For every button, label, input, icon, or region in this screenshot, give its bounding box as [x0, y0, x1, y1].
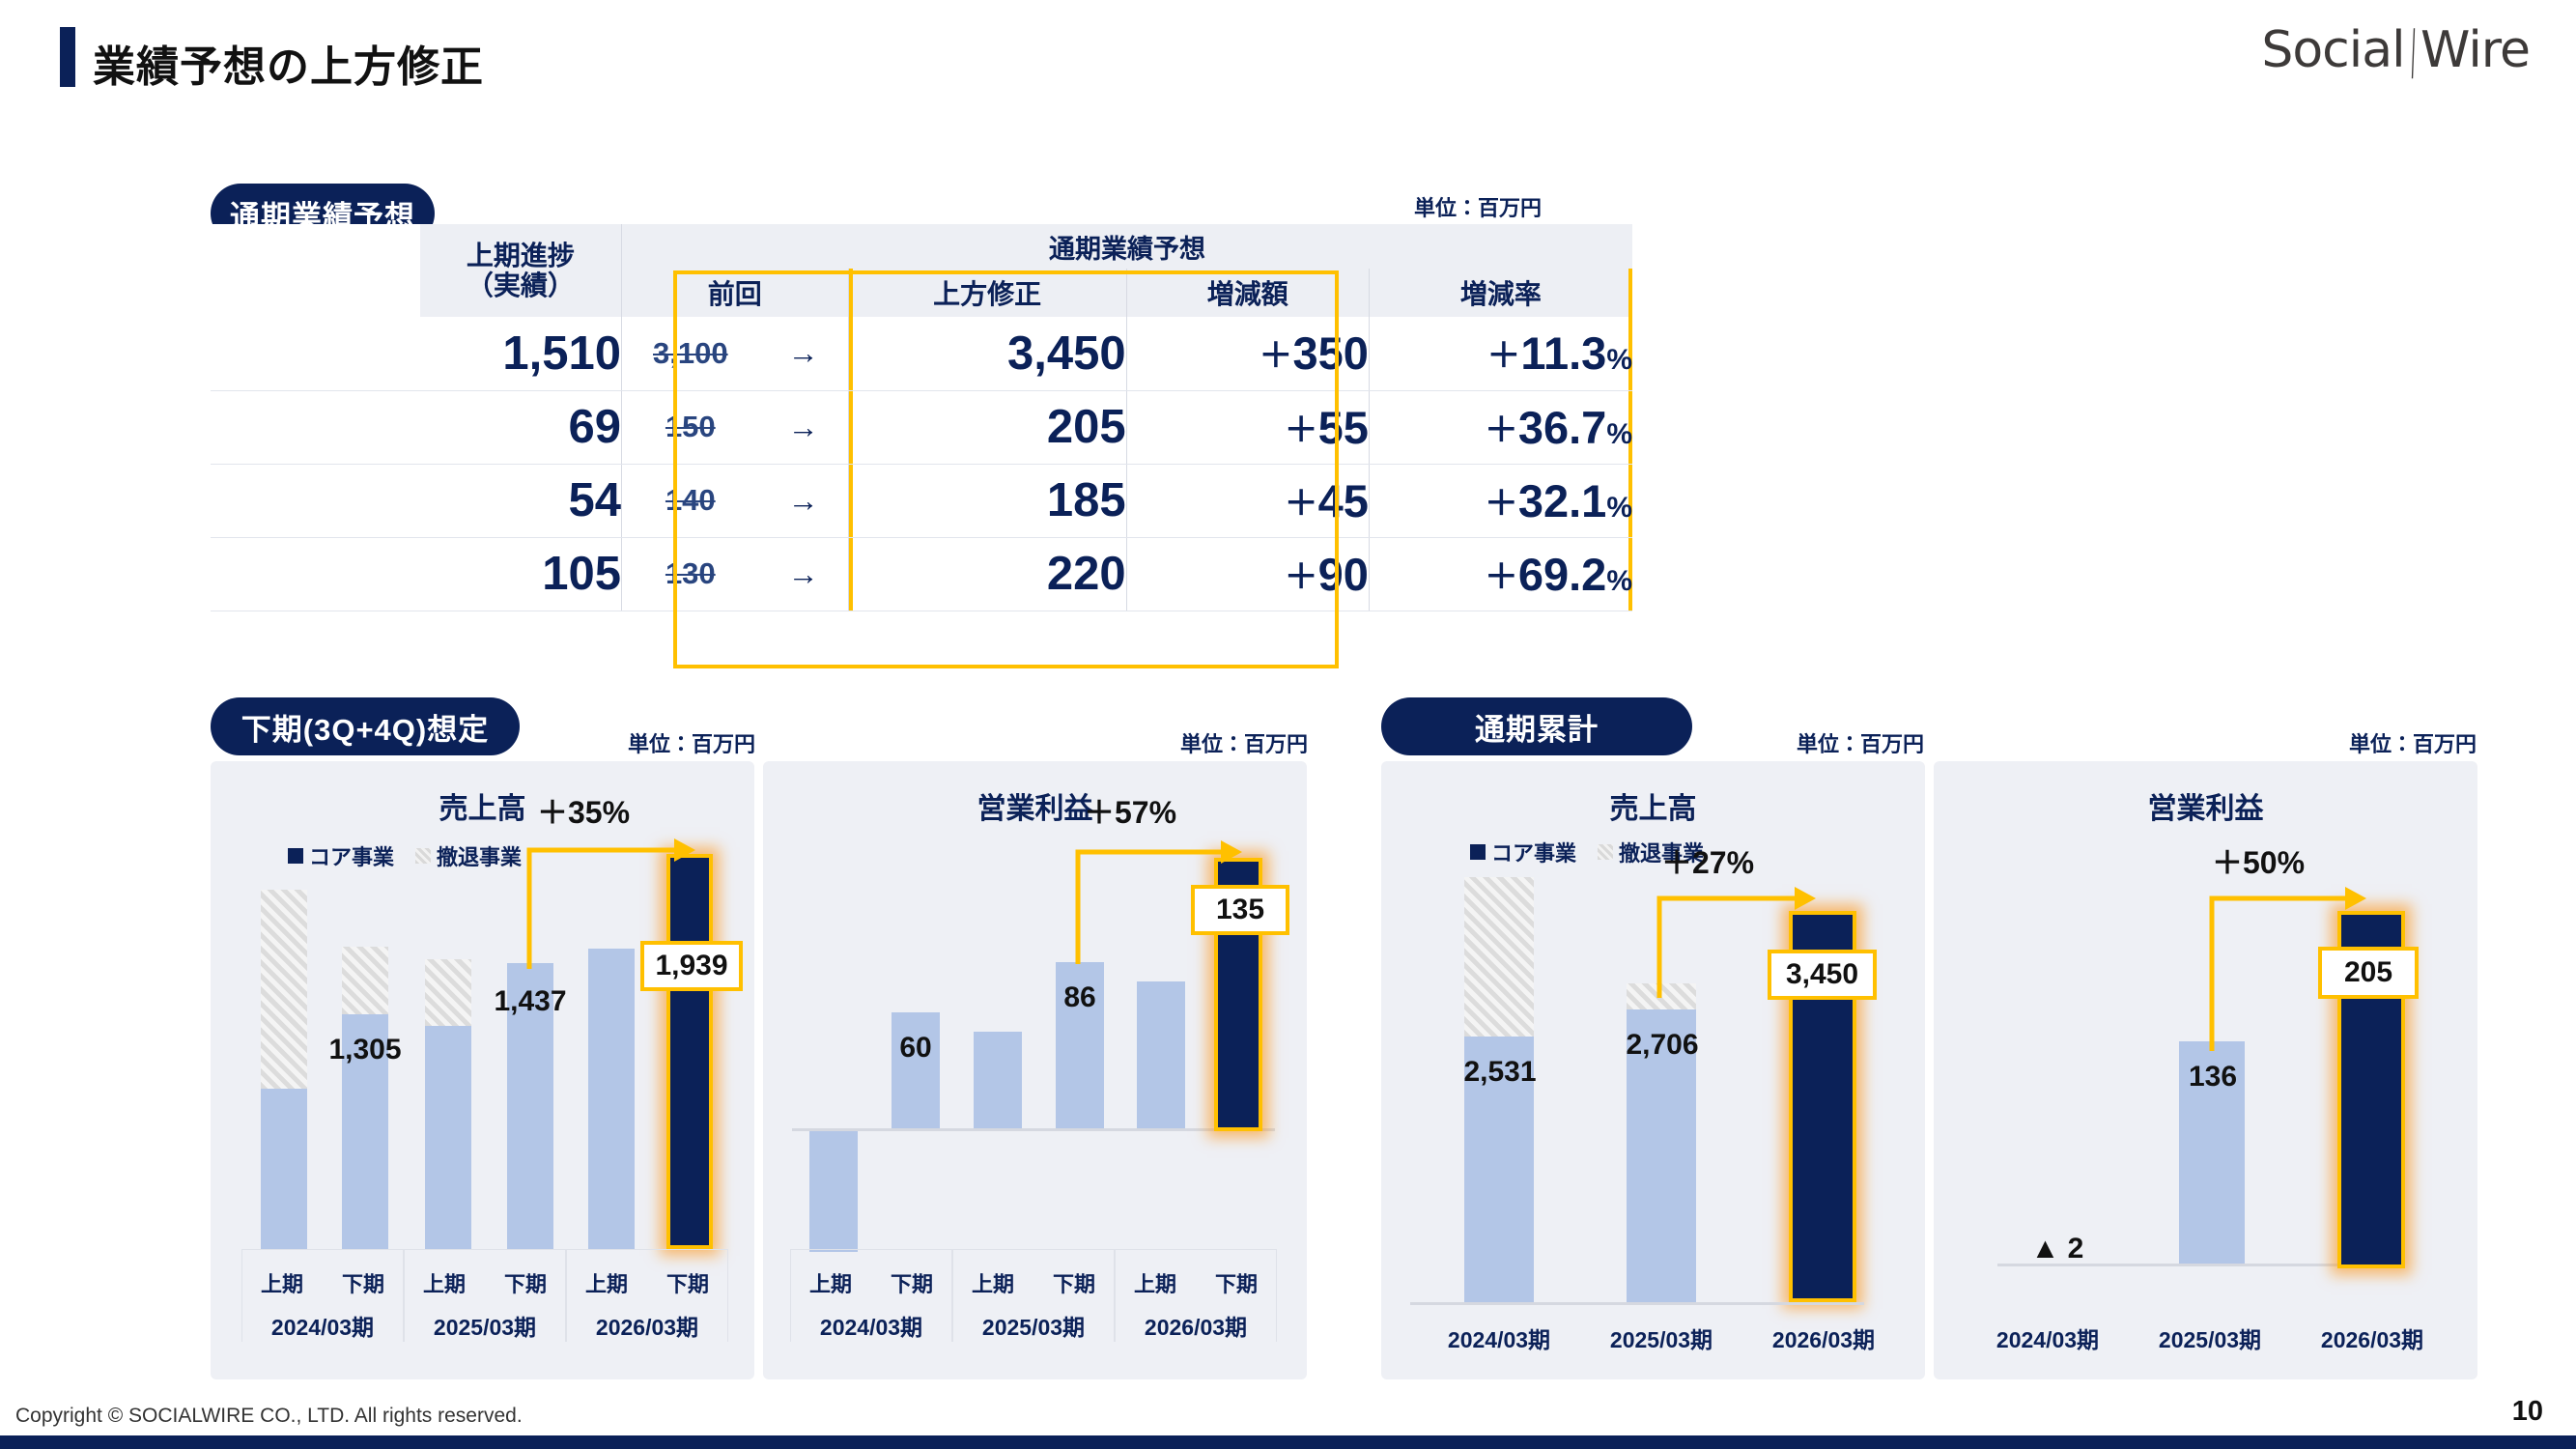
cell-previous-revenue: 3,100: [621, 317, 758, 390]
axis-year-fy2026-full-op: 2026/03期: [2291, 1321, 2453, 1354]
col-header-h1-progress-line2: （実績）: [420, 270, 621, 300]
cell-delta-ordinary-profit: ＋45: [1126, 464, 1369, 537]
cell-delta-operating-profit: ＋55: [1126, 390, 1369, 464]
bar-2024-h2: [892, 1012, 940, 1128]
bar-core-2024-h1: [261, 1089, 307, 1249]
cell-revised-operating-profit: 205: [848, 390, 1126, 464]
chart-title-half-revenue: 売上高: [211, 784, 754, 827]
table-row: 売上高 1,510 3,100 → 3,450 ＋350 ＋11.3%: [211, 317, 1632, 390]
axis-year-fy2025-full-op: 2025/03期: [2129, 1321, 2291, 1354]
axis-label-2025-h1: 上期: [404, 1267, 485, 1298]
bar-exit-fy2024: [1464, 877, 1534, 1037]
legend-swatch-exit-icon: [415, 848, 431, 864]
axis-year-2025-half-revenue: 2025/03期: [404, 1309, 566, 1342]
cell-delta-net-income: ＋90: [1126, 537, 1369, 611]
axis-label-op-2024-h2: 下期: [871, 1267, 952, 1298]
legend-item-core-full: コア事業: [1470, 837, 1576, 867]
cell-rate-revenue: ＋11.3%: [1369, 317, 1632, 390]
bar-2025-h1: [974, 1032, 1022, 1128]
annotation-label-full-revenue: ＋27%: [1661, 838, 1754, 883]
cell-previous-net-income: 130: [621, 537, 758, 611]
cell-previous-ordinary-profit: 140: [621, 464, 758, 537]
badge-second-half-assumption-label: 下期(3Q+4Q)想定: [241, 705, 489, 749]
axis-label-op-2025-h2: 下期: [1033, 1267, 1115, 1298]
axis-label-op-2026-h1: 上期: [1115, 1267, 1196, 1298]
axis-label-2026-h2: 下期: [647, 1267, 728, 1298]
table-row: 経常利益 54 140 → 185 ＋45 ＋32.1%: [211, 464, 1632, 537]
chart-card-full-revenue: 売上高 コア事業 撤退事業 2,531 2,706 3,450 ＋27% 202…: [1381, 761, 1925, 1379]
legend-item-exit: 撤退事業: [415, 840, 522, 871]
cell-revised-ordinary-profit: 185: [848, 464, 1126, 537]
annotation-arrow-full-operating-profit: [2204, 877, 2378, 1056]
half-unit-label-profit: 単位：百万円: [1180, 727, 1308, 758]
slide-root: 業績予想の上方修正 Social|Wire 通期業績予想 単位：百万円 上期進捗…: [0, 0, 2576, 1449]
full-unit-label-profit: 単位：百万円: [2349, 727, 2477, 758]
annotation-label-half-revenue: ＋35%: [537, 788, 630, 833]
legend-label-exit: 撤退事業: [437, 840, 522, 871]
logo-text-left: Social: [2261, 21, 2404, 79]
badge-second-half-assumption: 下期(3Q+4Q)想定: [211, 697, 520, 755]
baseline-full-revenue: [1410, 1302, 1864, 1305]
badge-full-year-cumulative: 通期累計: [1381, 697, 1692, 755]
forecast-table: 上期進捗 （実績） 通期業績予想 前回 上方修正 増減額 増減率 売上高 1,5…: [211, 224, 1632, 611]
logo-separator-icon: |: [2407, 21, 2418, 79]
legend-label-core-full: コア事業: [1491, 837, 1576, 867]
title-accent-bar: [60, 27, 75, 87]
annotation-label-half-operating-profit: ＋57%: [1084, 788, 1176, 833]
row-label-revenue: 売上高: [211, 317, 420, 390]
axis-year-fy2025-full-revenue: 2025/03期: [1580, 1321, 1742, 1354]
chart-card-half-operating-profit: 営業利益 60 86 135 ＋57% 上期 下期 上期 下期 上期 下期 20…: [763, 761, 1307, 1379]
axis-label-op-2026-h2: 下期: [1196, 1267, 1277, 1298]
zero-baseline-half-operating-profit: [792, 1128, 1275, 1131]
annotation-arrow-half-operating-profit: [1068, 829, 1252, 969]
legend-swatch-core-icon: [1470, 844, 1486, 860]
bar-label-fy2025: 2,706: [1613, 1029, 1712, 1062]
cell-h1-revenue: 1,510: [420, 317, 622, 390]
page-number: 10: [2512, 1396, 2543, 1428]
cell-delta-revenue: ＋350: [1126, 317, 1369, 390]
legend-item-core: コア事業: [288, 840, 394, 871]
chart-title-full-revenue: 売上高: [1381, 784, 1925, 827]
legend-swatch-exit-icon: [1598, 844, 1613, 860]
legend-swatch-core-icon: [288, 848, 303, 864]
bar-label-fy2024: 2,531: [1451, 1056, 1549, 1089]
arrow-icon-revenue: →: [759, 317, 848, 390]
cell-h1-operating-profit: 69: [420, 390, 622, 464]
table-row: 当期純利益 105 130 → 220 ＋90 ＋69.2%: [211, 537, 1632, 611]
axis-label-op-2024-h1: 上期: [790, 1267, 871, 1298]
cell-revised-net-income: 220: [848, 537, 1126, 611]
bar-core-2026-h1: [588, 949, 635, 1249]
bar-exit-2024-h1: [261, 890, 307, 1089]
col-header-h1-progress: 上期進捗 （実績）: [420, 224, 622, 317]
col-header-previous: 前回: [621, 269, 848, 317]
arrow-icon-net-income: →: [759, 537, 848, 611]
cell-rate-operating-profit: ＋36.7%: [1369, 390, 1632, 464]
annotation-arrow-full-revenue: [1652, 877, 1826, 1003]
axis-label-2026-h1: 上期: [566, 1267, 647, 1298]
col-header-change-rate: 増減率: [1369, 269, 1632, 317]
axis-year-fy2024-full-revenue: 2024/03期: [1418, 1321, 1580, 1354]
page-title: 業績予想の上方修正: [93, 32, 484, 94]
chart-card-half-revenue: 売上高 コア事業 撤退事業 1,305 1,437 1,939 ＋35% 上期 …: [211, 761, 754, 1379]
bar-2024-h1-negative: [809, 1131, 858, 1252]
cell-previous-operating-profit: 150: [621, 390, 758, 464]
row-label-ordinary-profit: 経常利益: [211, 464, 420, 537]
axis-year-2025-half-op: 2025/03期: [952, 1309, 1115, 1342]
bar-2026-h1: [1137, 981, 1185, 1128]
forecast-unit-label: 単位：百万円: [1414, 191, 1542, 222]
axis-year-2026-half-op: 2026/03期: [1115, 1309, 1277, 1342]
axis-year-2024-half-op: 2024/03期: [790, 1309, 952, 1342]
bar-label-fy2025-op: 136: [2166, 1061, 2260, 1094]
axis-label-2025-h2: 下期: [485, 1267, 566, 1298]
chart-title-full-operating-profit: 営業利益: [1934, 784, 2477, 827]
badge-full-year-cumulative-label: 通期累計: [1475, 705, 1599, 749]
bar-exit-2025-h1: [425, 959, 471, 1026]
annotation-label-full-operating-profit: ＋50%: [2212, 838, 2305, 883]
chart-title-half-operating-profit: 営業利益: [763, 784, 1307, 827]
row-label-net-income: 当期純利益: [211, 537, 420, 611]
axis-year-2026-half-revenue: 2026/03期: [566, 1309, 728, 1342]
col-header-change-amount: 増減額: [1126, 269, 1369, 317]
legend-label-core: コア事業: [309, 840, 394, 871]
row-label-operating-profit: 営業利益: [211, 390, 420, 464]
bar-label-op-2024-h2: 60: [867, 1032, 964, 1065]
cell-h1-net-income: 105: [420, 537, 622, 611]
half-unit-label-revenue: 単位：百万円: [628, 727, 755, 758]
arrow-icon-ordinary-profit: →: [759, 464, 848, 537]
full-unit-label-revenue: 単位：百万円: [1797, 727, 1924, 758]
bar-label-op-2025-h2: 86: [1032, 981, 1128, 1014]
col-header-h1-progress-line1: 上期進捗: [420, 241, 621, 270]
axis-year-fy2024-full-op: 2024/03期: [1967, 1321, 2129, 1354]
cell-rate-net-income: ＋69.2%: [1369, 537, 1632, 611]
annotation-arrow-half-revenue: [520, 829, 703, 974]
cell-revised-revenue: 3,450: [848, 317, 1126, 390]
axis-year-fy2026-full-revenue: 2026/03期: [1742, 1321, 1905, 1354]
arrow-icon-operating-profit: →: [759, 390, 848, 464]
axis-label-2024-h1: 上期: [241, 1267, 323, 1298]
bar-label-2025-h2: 1,437: [482, 985, 579, 1018]
axis-year-2024-half-revenue: 2024/03期: [241, 1309, 404, 1342]
chart-card-full-operating-profit: 営業利益 ▲ 2 136 205 ＋50% 2024/03期 2025/03期 …: [1934, 761, 2477, 1379]
bar-label-2024-h2: 1,305: [317, 1034, 413, 1066]
table-row: 営業利益 69 150 → 205 ＋55 ＋36.7%: [211, 390, 1632, 464]
footer-bar: [0, 1435, 2576, 1449]
copyright-text: Copyright © SOCIALWIRE CO., LTD. All rig…: [15, 1405, 523, 1428]
chart-legend-half-revenue: コア事業 撤退事業: [288, 840, 522, 871]
axis-label-op-2025-h1: 上期: [952, 1267, 1033, 1298]
cell-h1-ordinary-profit: 54: [420, 464, 622, 537]
col-header-revised: 上方修正: [848, 269, 1126, 317]
table-header-group-row: 上期進捗 （実績） 通期業績予想: [211, 224, 1632, 269]
bar-exit-2024-h2: [342, 947, 388, 1014]
axis-label-2024-h2: 下期: [323, 1267, 404, 1298]
logo-text-right: Wire: [2420, 21, 2530, 79]
cell-rate-ordinary-profit: ＋32.1%: [1369, 464, 1632, 537]
col-header-group-forecast: 通期業績予想: [621, 224, 1632, 269]
bar-label-fy2024-op: ▲ 2: [1999, 1233, 2115, 1265]
socialwire-logo: Social|Wire: [2261, 21, 2530, 79]
bar-core-2025-h1: [425, 1026, 471, 1249]
